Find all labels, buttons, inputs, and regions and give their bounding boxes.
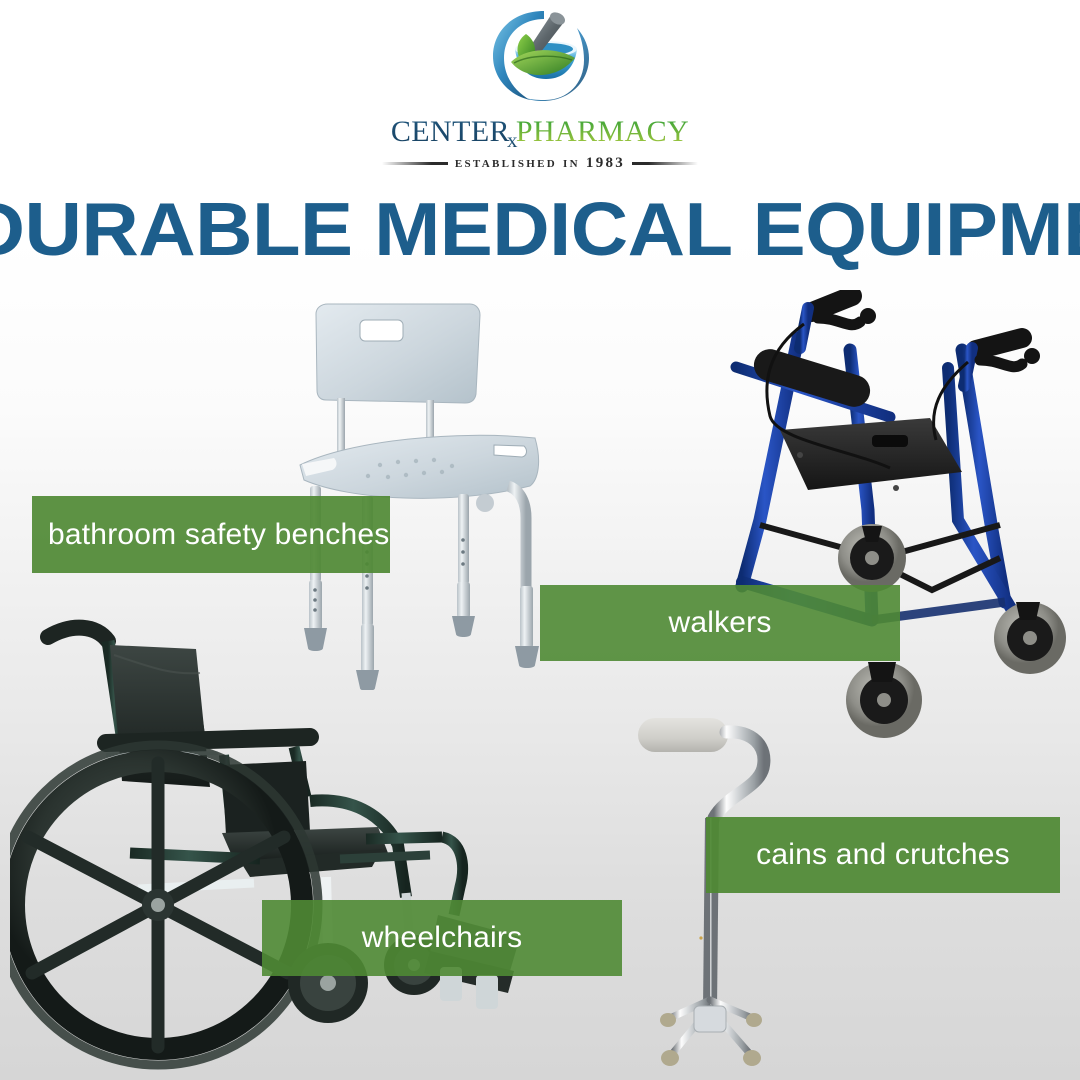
category-label-wheelchairs[interactable]: wheelchairs	[262, 900, 622, 976]
wheelchair-product-photo	[10, 615, 550, 1080]
category-label-text: walkers	[540, 606, 900, 640]
category-label-text: bathroom safety benches	[48, 518, 390, 552]
category-label-text: wheelchairs	[262, 921, 622, 955]
category-label-walkers[interactable]: walkers	[540, 585, 900, 661]
poster-canvas: CenterxPharmacy Established in 1983 DURA…	[0, 0, 1080, 1080]
category-label-cains-and-crutches[interactable]: cains and crutches	[706, 817, 1060, 893]
category-label-bathroom-benches[interactable]: bathroom safety benches	[32, 496, 390, 573]
category-label-text: cains and crutches	[706, 838, 1060, 872]
rollator-walker-product-photo	[700, 290, 1080, 760]
